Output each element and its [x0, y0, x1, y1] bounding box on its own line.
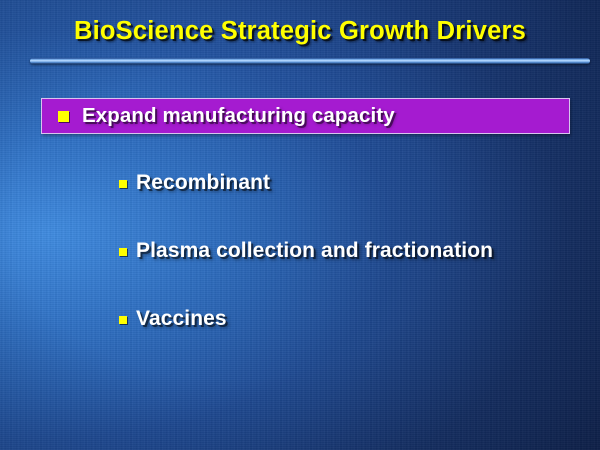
yellow-square-bullet-icon — [119, 180, 127, 188]
sub-bullet-label: Plasma collection and fractionation — [136, 239, 493, 263]
slide-title: BioScience Strategic Growth Drivers — [0, 17, 600, 46]
presentation-slide: BioScience Strategic Growth Drivers Expa… — [0, 0, 600, 450]
background-texture — [0, 0, 600, 450]
sub-bullet-item: Plasma collection and fractionation — [119, 239, 493, 263]
primary-bullet-banner: Expand manufacturing capacity — [41, 98, 570, 134]
primary-bullet-label: Expand manufacturing capacity — [82, 104, 395, 128]
sub-bullet-item: Recombinant — [119, 171, 270, 195]
sub-bullet-label: Vaccines — [136, 307, 227, 331]
background-vignette — [0, 0, 600, 450]
yellow-square-bullet-icon — [58, 111, 69, 122]
yellow-square-bullet-icon — [119, 248, 127, 256]
sub-bullet-item: Vaccines — [119, 307, 227, 331]
sub-bullet-label: Recombinant — [136, 171, 270, 195]
yellow-square-bullet-icon — [119, 316, 127, 324]
title-divider-bar — [30, 58, 590, 64]
